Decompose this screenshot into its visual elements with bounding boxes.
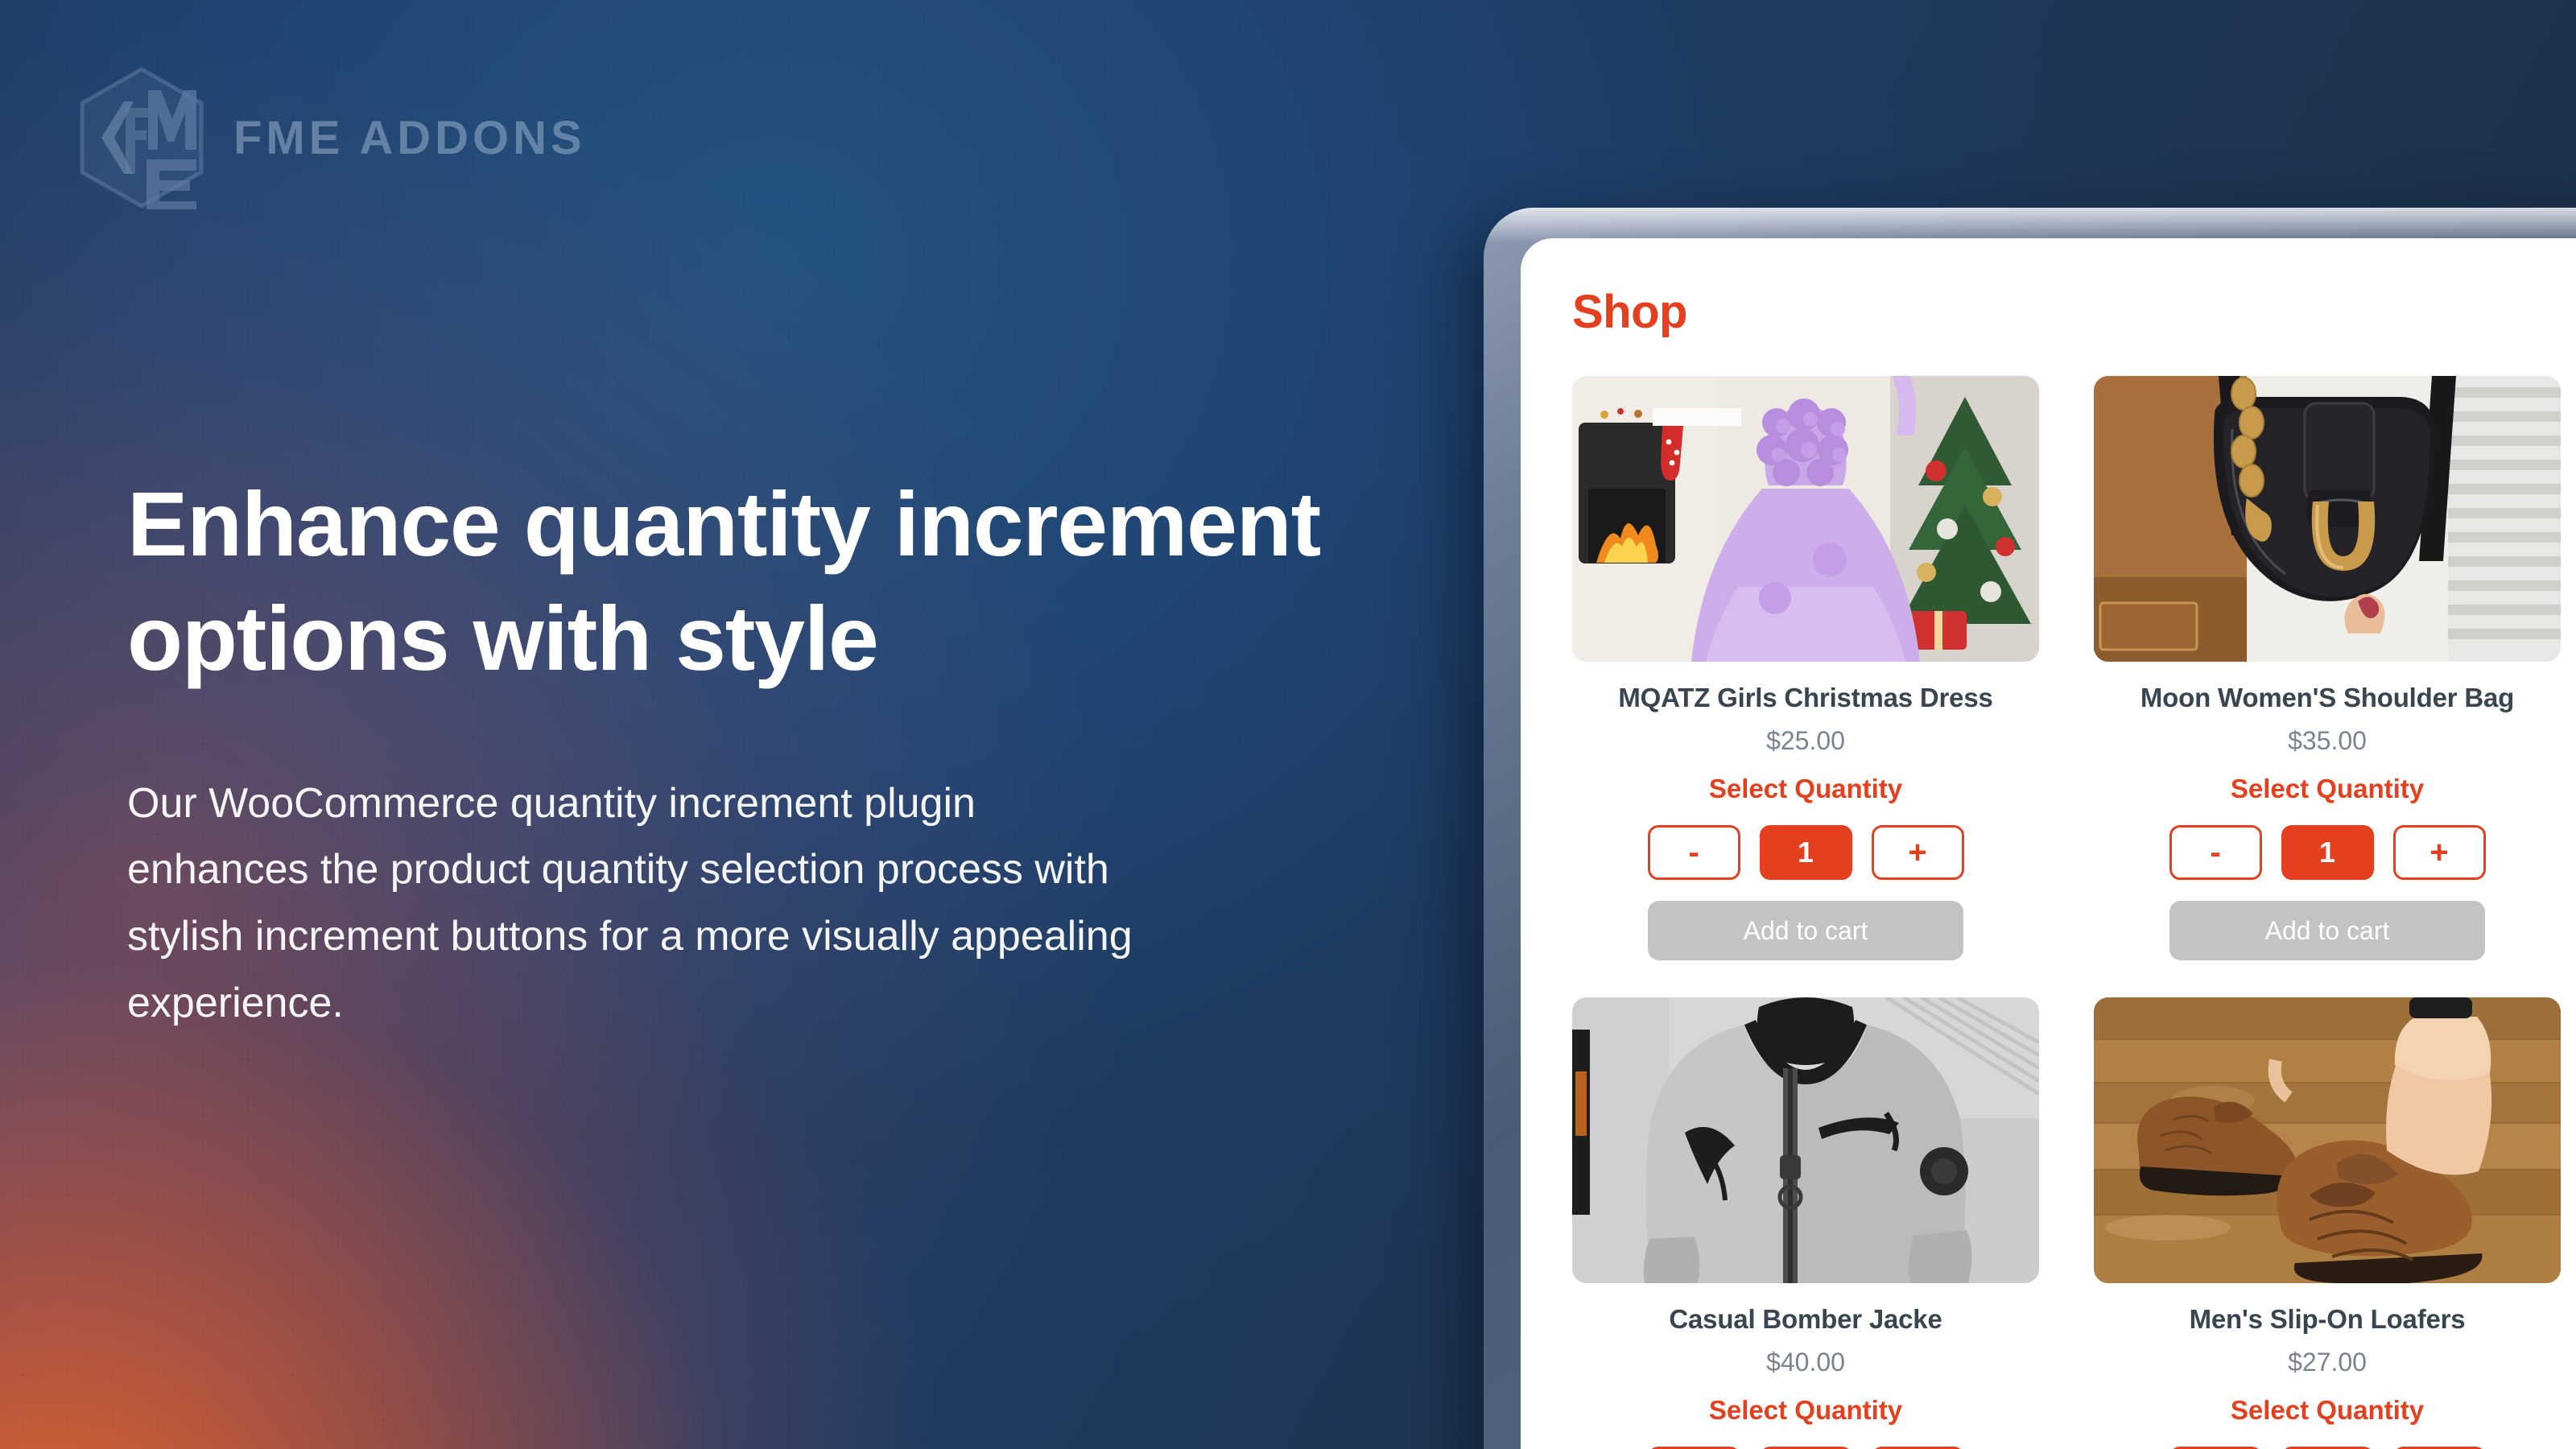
add-to-cart-button[interactable]: Add to cart [2169, 901, 2485, 960]
product-price: $40.00 [1572, 1348, 2039, 1377]
select-quantity-label: Select Quantity [2094, 1395, 2561, 1426]
product-price: $27.00 [2094, 1348, 2561, 1377]
hero-copy: Enhance quantity increment options with … [127, 467, 1383, 1036]
product-card[interactable]: MQATZ Girls Christmas Dress $25.00 Selec… [1572, 376, 2039, 960]
product-price: $25.00 [1572, 726, 2039, 756]
product-image-christmas-dress[interactable] [1572, 376, 2039, 662]
shop-heading: Shop [1572, 285, 2576, 339]
select-quantity-label: Select Quantity [1572, 1395, 2039, 1426]
product-name: MQATZ Girls Christmas Dress [1572, 683, 2039, 713]
increment-button[interactable]: + [2393, 825, 2486, 880]
decrement-button[interactable]: - [2169, 825, 2262, 880]
product-card[interactable]: Men's Slip-On Loafers $27.00 Select Quan… [2094, 997, 2561, 1449]
brand-lockup: FME ADDONS [77, 66, 586, 209]
product-card[interactable]: Moon Women'S Shoulder Bag $35.00 Select … [2094, 376, 2561, 960]
page-title: Enhance quantity increment options with … [127, 467, 1351, 696]
fme-hexagon-logo-icon [77, 66, 206, 209]
quantity-stepper: - 1 + [1572, 825, 2039, 880]
product-price: $35.00 [2094, 726, 2561, 756]
product-image-shoulder-bag[interactable] [2094, 376, 2561, 662]
product-name: Men's Slip-On Loafers [2094, 1304, 2561, 1335]
increment-button[interactable]: + [1872, 825, 1964, 880]
decrement-button[interactable]: - [1648, 825, 1740, 880]
add-to-cart-button[interactable]: Add to cart [1648, 901, 1963, 960]
quantity-stepper: - 1 + [2094, 825, 2561, 880]
brand-name: FME ADDONS [233, 111, 586, 165]
shop-screen: Shop [1521, 238, 2576, 1449]
product-image-loafers[interactable] [2094, 997, 2561, 1283]
product-name: Casual Bomber Jacke [1572, 1304, 2039, 1335]
select-quantity-label: Select Quantity [2094, 774, 2561, 804]
device-mockup: Shop [1484, 208, 2576, 1449]
product-name: Moon Women'S Shoulder Bag [2094, 683, 2561, 713]
hero-description: Our WooCommerce quantity increment plugi… [127, 770, 1166, 1037]
quantity-value[interactable]: 1 [1760, 825, 1852, 880]
product-grid: MQATZ Girls Christmas Dress $25.00 Selec… [1572, 376, 2561, 1449]
select-quantity-label: Select Quantity [1572, 774, 2039, 804]
product-card[interactable]: Casual Bomber Jacke $40.00 Select Quanti… [1572, 997, 2039, 1449]
quantity-value[interactable]: 1 [2281, 825, 2374, 880]
product-image-bomber-jacket[interactable] [1572, 997, 2039, 1283]
hero-banner: FME ADDONS Enhance quantity increment op… [0, 0, 2576, 1449]
